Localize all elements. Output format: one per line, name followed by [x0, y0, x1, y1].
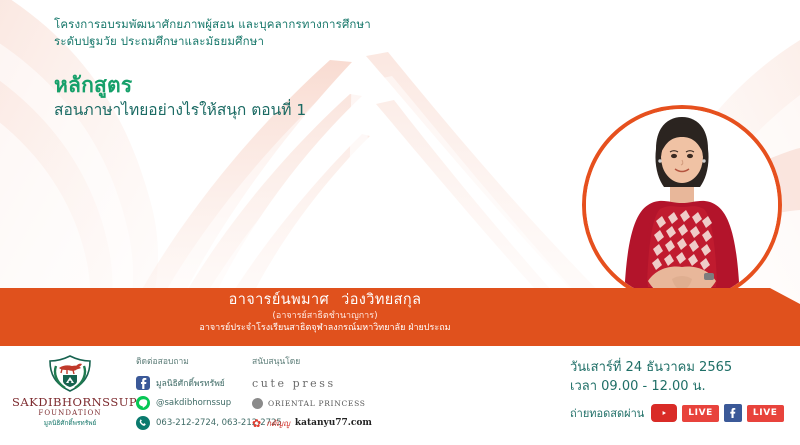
contact-column: ติดต่อสอบถาม มูลนิธิศักดิ์พรทรัพย์ @sakd… — [136, 354, 261, 433]
footer: SAKDIBHORNSSUP FOUNDATION มูลนิธิศักดิ์พ… — [0, 346, 800, 445]
sponsor-oriental-princess: ORIENTAL PRINCESS — [252, 393, 392, 413]
broadcast-label: ถ่ายทอดสดผ่าน — [570, 404, 644, 422]
speaker-band: อาจารย์นพมาศว่องวิทยสกุล (อาจารย์สาธิตชำ… — [0, 288, 800, 346]
contact-row-line[interactable]: @sakdibhornssup — [136, 393, 261, 413]
program-line-2: ระดับปฐมวัย ประถมศึกษาและมัธยมศึกษา — [54, 33, 371, 50]
portrait-ring — [582, 105, 782, 305]
cute-press-logo: cute press — [252, 377, 336, 390]
contact-facebook-label: มูลนิธิศักดิ์พรทรัพย์ — [156, 376, 225, 390]
schedule-column: วันเสาร์ที่ 24 ธันวาคม 2565 เวลา 09.00 -… — [570, 358, 795, 422]
header-text-block: โครงการอบรมพัฒนาศักยภาพผู้สอน และบุคลากร… — [54, 16, 371, 121]
youtube-live-badge[interactable]: LIVE — [682, 405, 719, 422]
event-time: เวลา 09.00 - 12.00 น. — [570, 377, 795, 396]
facebook-icon — [136, 376, 150, 390]
logo-thai-name: มูลนิธิศักดิ์พรทรัพย์ — [12, 418, 128, 428]
event-date: วันเสาร์ที่ 24 ธันวาคม 2565 — [570, 358, 795, 377]
sponsor-katanyu: ✿ กตัญญู katanyu77.com — [252, 413, 392, 433]
speaker-name-first: อาจารย์นพมาศ — [229, 292, 330, 308]
course-label: หลักสูตร — [54, 72, 371, 98]
program-line-1: โครงการอบรมพัฒนาศักยภาพผู้สอน และบุคลากร… — [54, 16, 371, 33]
sponsor-cute-press: cute press — [252, 373, 392, 393]
contact-row-phone[interactable]: 063-212-2724, 063-212-2725 — [136, 413, 261, 433]
speaker-credential: (อาจารย์สาธิตชำนาญการ) — [0, 310, 650, 322]
contact-line-label: @sakdibhornssup — [156, 398, 231, 408]
youtube-icon[interactable] — [651, 404, 677, 422]
speaker-name: อาจารย์นพมาศว่องวิทยสกุล — [0, 291, 650, 310]
katanyu-mark-icon: ✿ — [252, 418, 261, 429]
foundation-logo: SAKDIBHORNSSUP FOUNDATION มูลนิธิศักดิ์พ… — [12, 354, 128, 428]
broadcast-row: ถ่ายทอดสดผ่าน LIVE LIVE — [570, 404, 795, 422]
line-icon — [136, 396, 150, 410]
oriental-princess-logo: ORIENTAL PRINCESS — [268, 399, 366, 408]
katanyu-url: katanyu77.com — [295, 418, 372, 428]
speaker-info: อาจารย์นพมาศว่องวิทยสกุล (อาจารย์สาธิตชำ… — [0, 288, 800, 346]
course-title: สอนภาษาไทยอย่างไรให้สนุก ตอนที่ 1 — [54, 99, 371, 121]
speaker-name-last: ว่องวิทยสกุล — [341, 292, 421, 308]
contact-row-facebook[interactable]: มูลนิธิศักดิ์พรทรัพย์ — [136, 373, 261, 393]
webinar-poster: โครงการอบรมพัฒนาศักยภาพผู้สอน และบุคลากร… — [0, 0, 800, 445]
speaker-affiliation: อาจารย์ประจำโรงเรียนสาธิตจุฬาลงกรณ์มหาวิ… — [0, 322, 650, 334]
facebook-live-badge[interactable]: LIVE — [747, 405, 784, 422]
shield-crest-icon — [43, 354, 97, 394]
contact-heading: ติดต่อสอบถาม — [136, 354, 261, 368]
logo-name: SAKDIBHORNSSUP — [12, 395, 128, 409]
katanyu-thai-label: กตัญญู — [266, 417, 290, 430]
support-heading: สนับสนุนโดย — [252, 354, 392, 368]
logo-subtitle: FOUNDATION — [12, 409, 128, 417]
facebook-icon-live[interactable] — [724, 404, 742, 422]
phone-icon — [136, 416, 150, 430]
support-column: สนับสนุนโดย cute press ORIENTAL PRINCESS… — [252, 354, 392, 433]
oriental-princess-mark-icon — [252, 398, 263, 409]
